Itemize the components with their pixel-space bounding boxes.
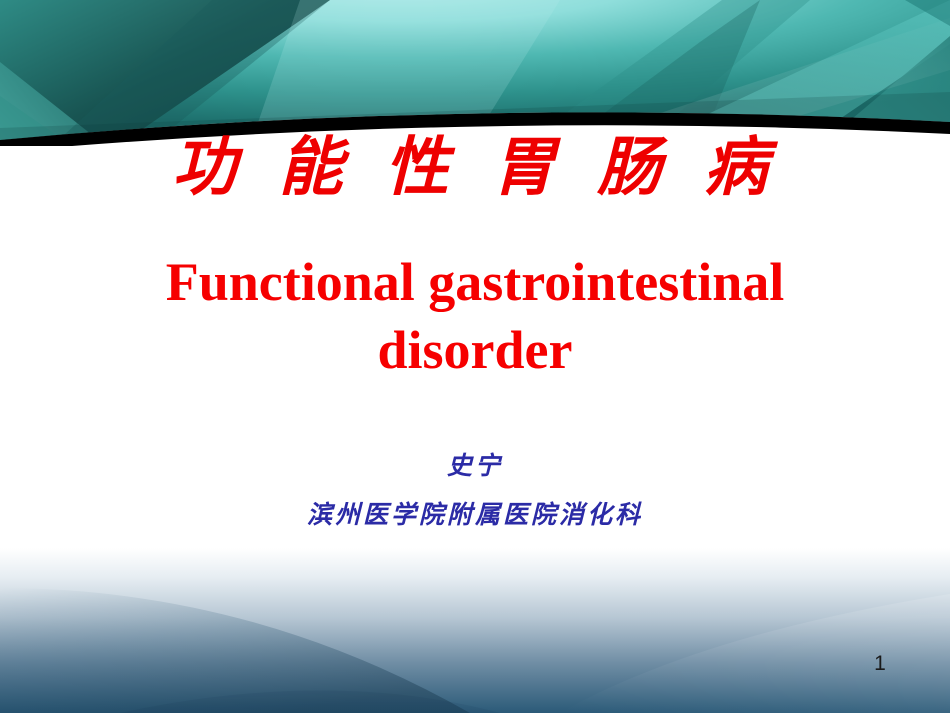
slide-footer-decoration: [0, 548, 950, 713]
slide-page-number: 1: [866, 652, 894, 676]
presentation-slide: 功 能 性 胃 肠 病 Functional gastrointestinal …: [0, 0, 950, 713]
slide-title-english: Functional gastrointestinal disorder: [95, 248, 855, 384]
slide-header-decoration: [0, 0, 950, 146]
slide-title-chinese: 功 能 性 胃 肠 病: [0, 131, 950, 205]
presenter-name: 史宁: [0, 450, 950, 482]
presenter-affiliation: 滨州医学院附属医院消化科: [0, 498, 950, 532]
teal-banner-graphic: [0, 0, 950, 146]
footer-gradient-graphic: [0, 548, 950, 713]
